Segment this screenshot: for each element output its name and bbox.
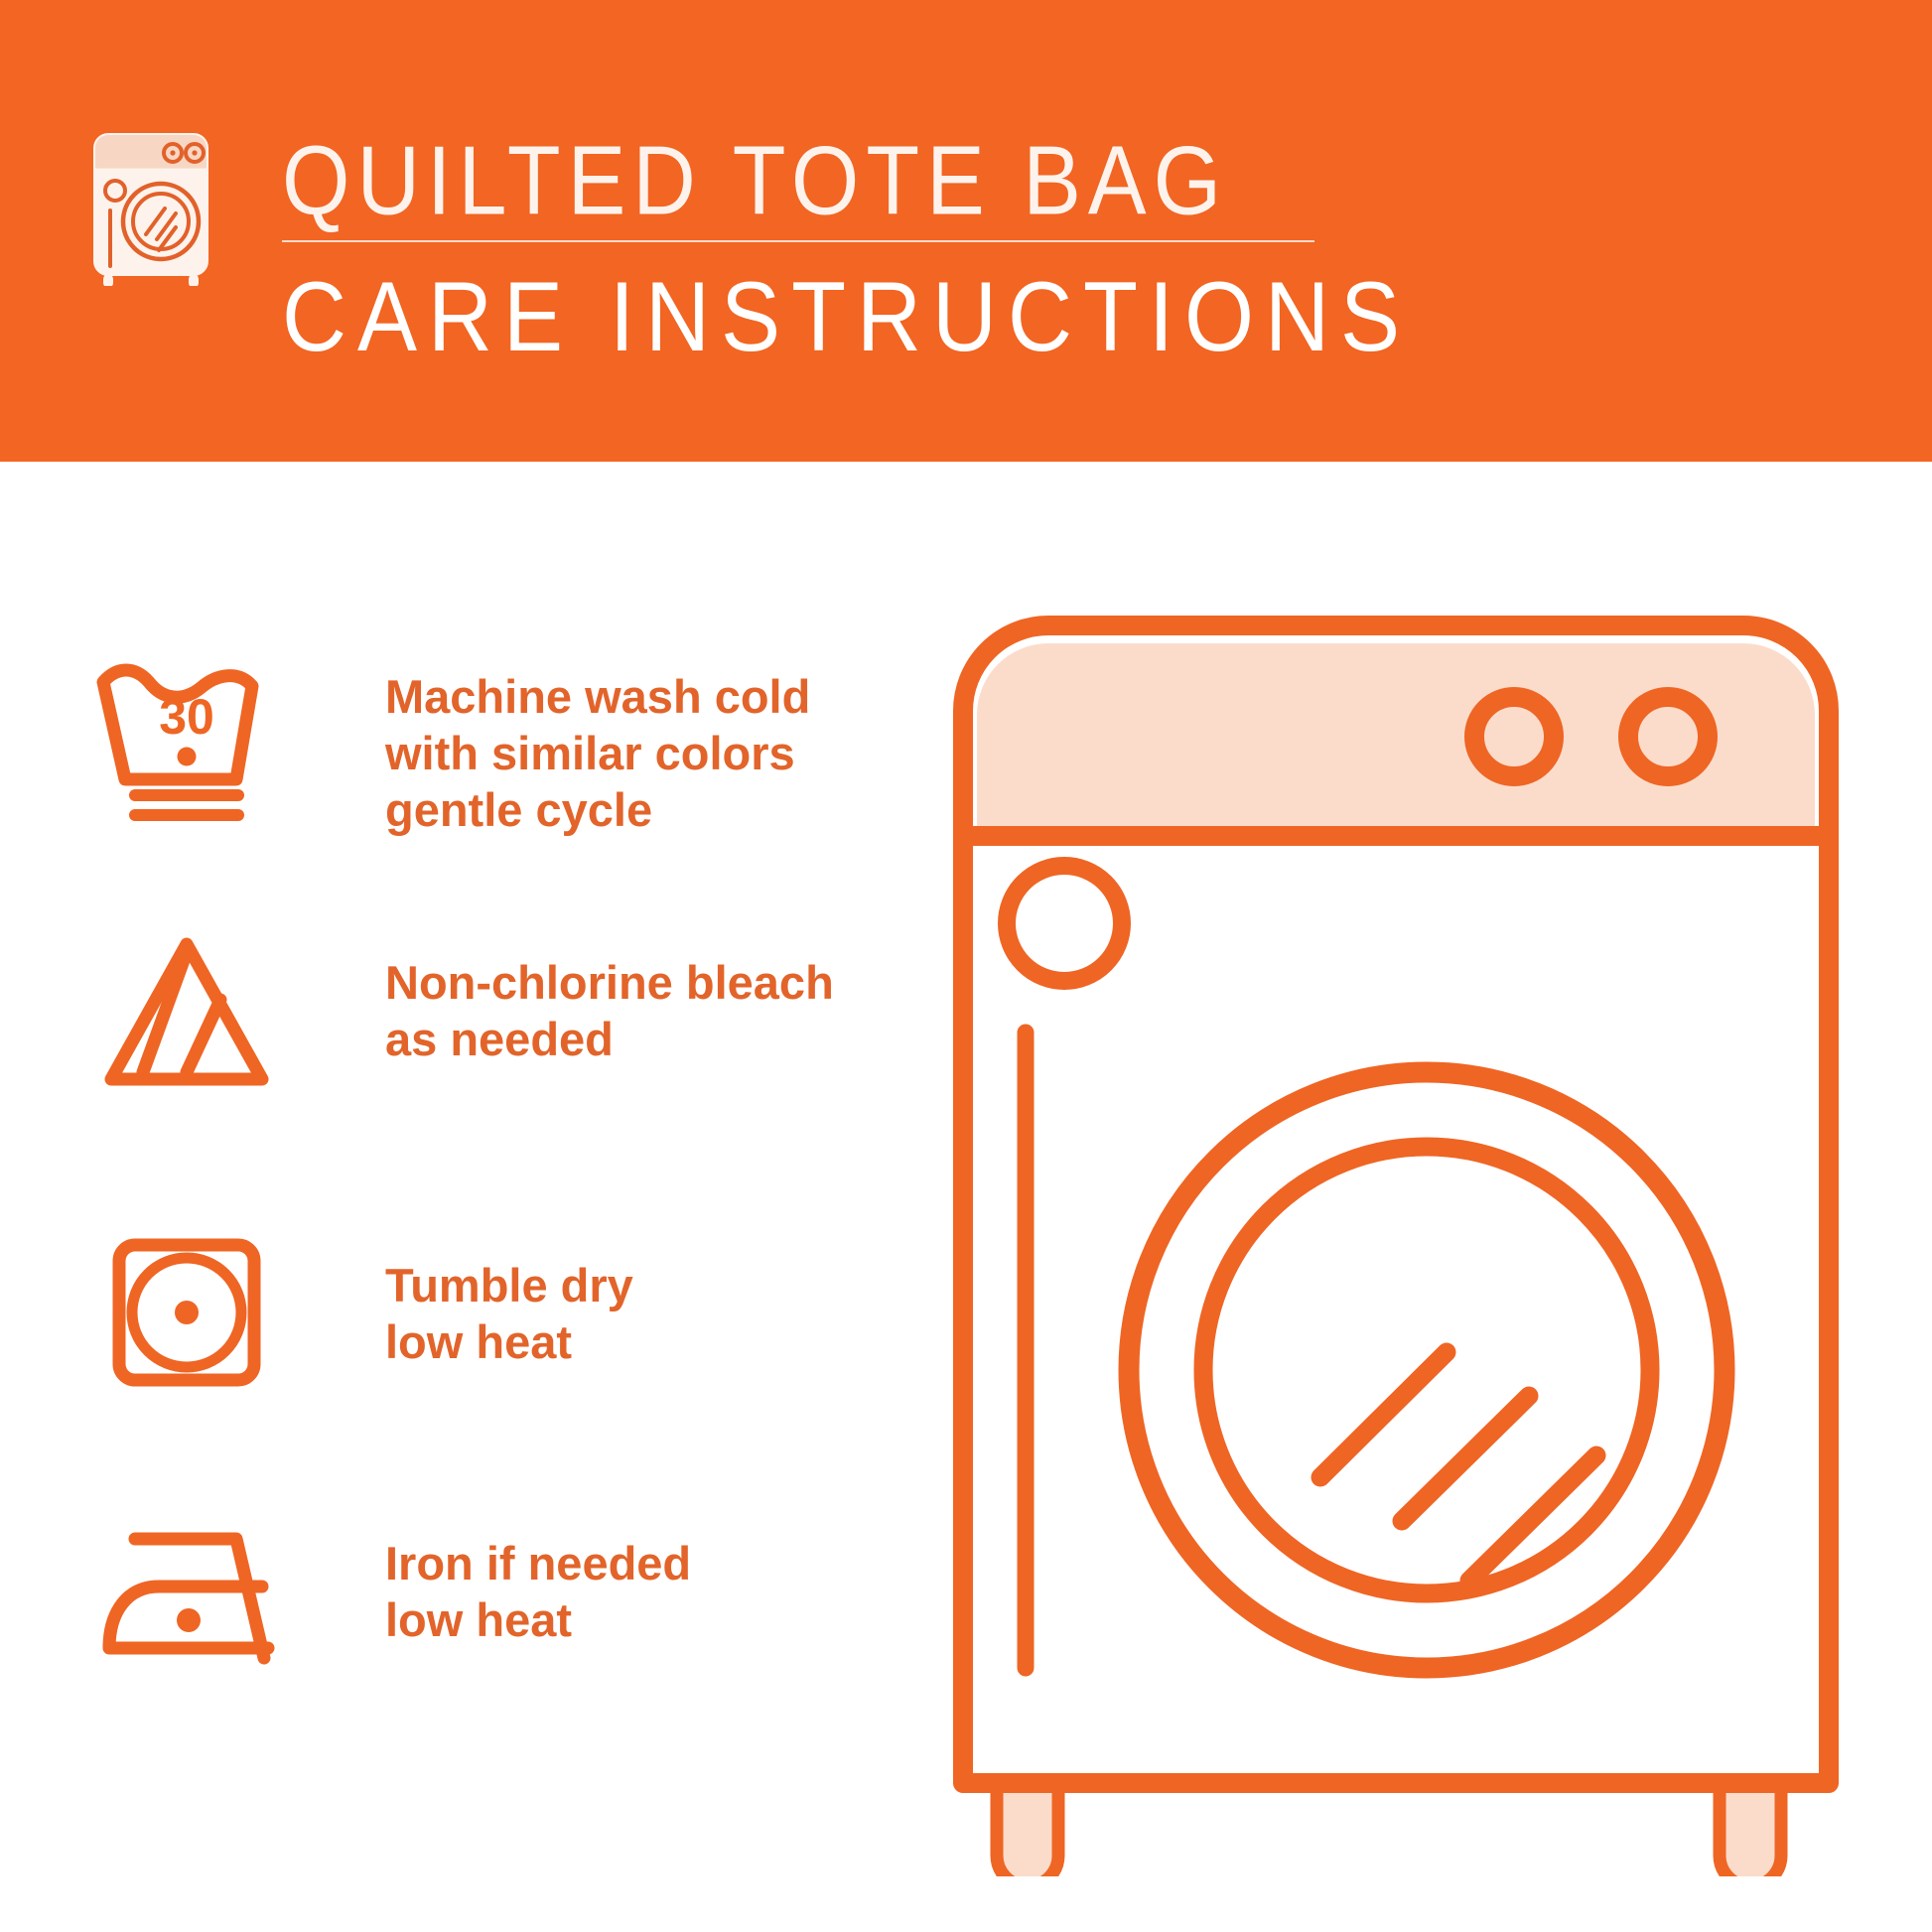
header-text-block: QUILTED TOTE BAG CARE INSTRUCTIONS [282,127,1314,361]
care-row-dry: Tumble dry low heat [0,1211,933,1420]
care-row-wash: 30 Machine wash cold with similar colors… [0,640,933,849]
care-instructions-list: 30 Machine wash cold with similar colors… [0,462,933,1932]
care-row-iron: Iron if needed low heat [0,1489,933,1698]
header-banner: QUILTED TOTE BAG CARE INSTRUCTIONS [0,0,1932,462]
large-washing-machine-illustration [953,616,1876,1876]
wash-temperature-label: 30 [159,689,214,745]
care-label-wash: Machine wash cold with similar colors ge… [385,668,810,838]
washer-knob-left [1474,697,1554,776]
care-label-bleach: Non-chlorine bleach as needed [385,954,834,1067]
iron-low-heat-icon [87,1504,286,1683]
care-label-dry: Tumble dry low heat [385,1257,633,1370]
page-subtitle: CARE INSTRUCTIONS [282,264,1314,371]
washer-knob-right [1628,697,1708,776]
care-label-iron: Iron if needed low heat [385,1535,691,1648]
page-title: QUILTED TOTE BAG [282,127,1314,234]
non-chlorine-bleach-triangle-icon [87,923,286,1102]
tumble-dry-low-icon [87,1226,286,1405]
care-instructions-page: QUILTED TOTE BAG CARE INSTRUCTIONS 30 [0,0,1932,1932]
wash-tub-30-icon: 30 [87,655,286,834]
washing-machine-icon [77,127,224,286]
title-divider [282,240,1314,242]
care-row-bleach: Non-chlorine bleach as needed [0,908,933,1117]
